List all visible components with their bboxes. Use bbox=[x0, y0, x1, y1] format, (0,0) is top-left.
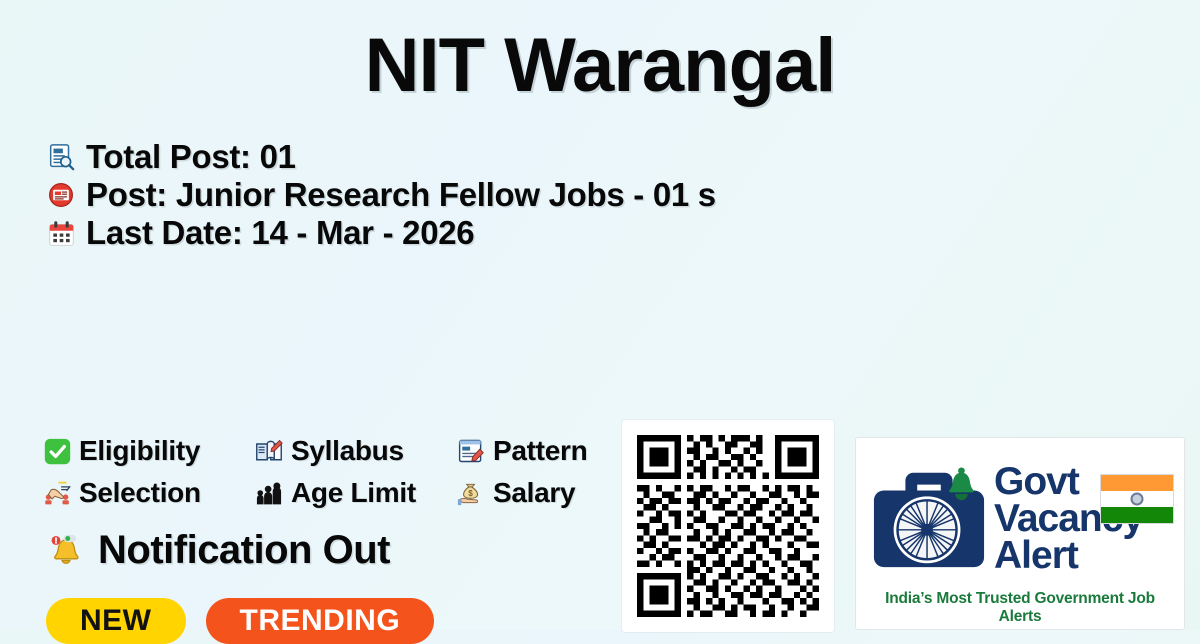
feature-label-age-limit: Age Limit bbox=[291, 477, 416, 509]
notification-out-text: Notification Out bbox=[98, 528, 390, 573]
exam-paper-icon bbox=[456, 436, 486, 466]
feature-label-salary: Salary bbox=[493, 477, 575, 509]
feature-label-eligibility: Eligibility bbox=[79, 435, 200, 467]
feature-eligibility: Eligibility bbox=[42, 435, 254, 467]
news-badge-icon bbox=[44, 178, 78, 212]
feature-label-selection: Selection bbox=[79, 477, 201, 509]
badge-trending[interactable]: TRENDING bbox=[206, 598, 435, 644]
feature-age-limit: Age Limit bbox=[254, 477, 456, 509]
bell-notification-icon bbox=[44, 529, 88, 573]
family-people-icon bbox=[254, 478, 284, 508]
info-text-post: Post: Junior Research Fellow Jobs - 01 s bbox=[86, 176, 716, 214]
logo-main-row: Govt Vacancy Alert bbox=[870, 448, 1170, 588]
flag-saffron-band bbox=[1101, 475, 1173, 491]
brand-line-alert: Alert bbox=[994, 537, 1143, 574]
feature-salary: $ Salary bbox=[456, 477, 575, 509]
info-text-total-post: Total Post: 01 bbox=[86, 138, 296, 176]
info-row-last-date: Last Date: 14 - Mar - 2026 bbox=[44, 214, 716, 252]
job-info-block: Total Post: 01 Post: Junior Research Fel… bbox=[44, 138, 716, 252]
flag-white-band bbox=[1101, 491, 1173, 507]
india-flag-icon bbox=[1100, 474, 1174, 524]
page-title: NIT Warangal bbox=[0, 20, 1200, 112]
feature-list: Eligibility Syllabus bbox=[42, 430, 682, 514]
check-mark-button-icon bbox=[42, 436, 72, 466]
brand-tagline: India’s Most Trusted Government Job Aler… bbox=[870, 590, 1170, 626]
info-row-total-post: Total Post: 01 bbox=[44, 138, 716, 176]
feature-selection: Selection bbox=[42, 477, 254, 509]
info-text-last-date: Last Date: 14 - Mar - 2026 bbox=[86, 214, 474, 252]
ashoka-chakra-icon bbox=[1131, 493, 1144, 506]
money-bag-hand-icon: $ bbox=[456, 478, 486, 508]
feature-row-1: Eligibility Syllabus bbox=[42, 430, 682, 472]
feature-label-pattern: Pattern bbox=[493, 435, 587, 467]
badge-new[interactable]: NEW bbox=[46, 598, 186, 644]
info-row-post: Post: Junior Research Fellow Jobs - 01 s bbox=[44, 176, 716, 214]
svg-text:$: $ bbox=[468, 489, 473, 498]
selection-hand-icon bbox=[42, 478, 72, 508]
badge-pill-group: NEW TRENDING bbox=[46, 598, 434, 644]
feature-syllabus: Syllabus bbox=[254, 435, 456, 467]
notification-out-banner: Notification Out bbox=[44, 528, 390, 573]
document-search-icon bbox=[44, 140, 78, 174]
qr-code[interactable] bbox=[637, 435, 819, 617]
briefcase-chakra-bell-logo-icon bbox=[870, 455, 988, 581]
open-book-pen-icon bbox=[254, 436, 284, 466]
qr-code-card[interactable] bbox=[622, 420, 834, 632]
feature-pattern: Pattern bbox=[456, 435, 587, 467]
calendar-icon bbox=[44, 216, 78, 250]
brand-logo-card: Govt Vacancy Alert India’s Most Trusted … bbox=[855, 437, 1185, 630]
feature-row-2: Selection Age Limit $ bbox=[42, 472, 682, 514]
feature-label-syllabus: Syllabus bbox=[291, 435, 404, 467]
flag-green-band bbox=[1101, 507, 1173, 523]
